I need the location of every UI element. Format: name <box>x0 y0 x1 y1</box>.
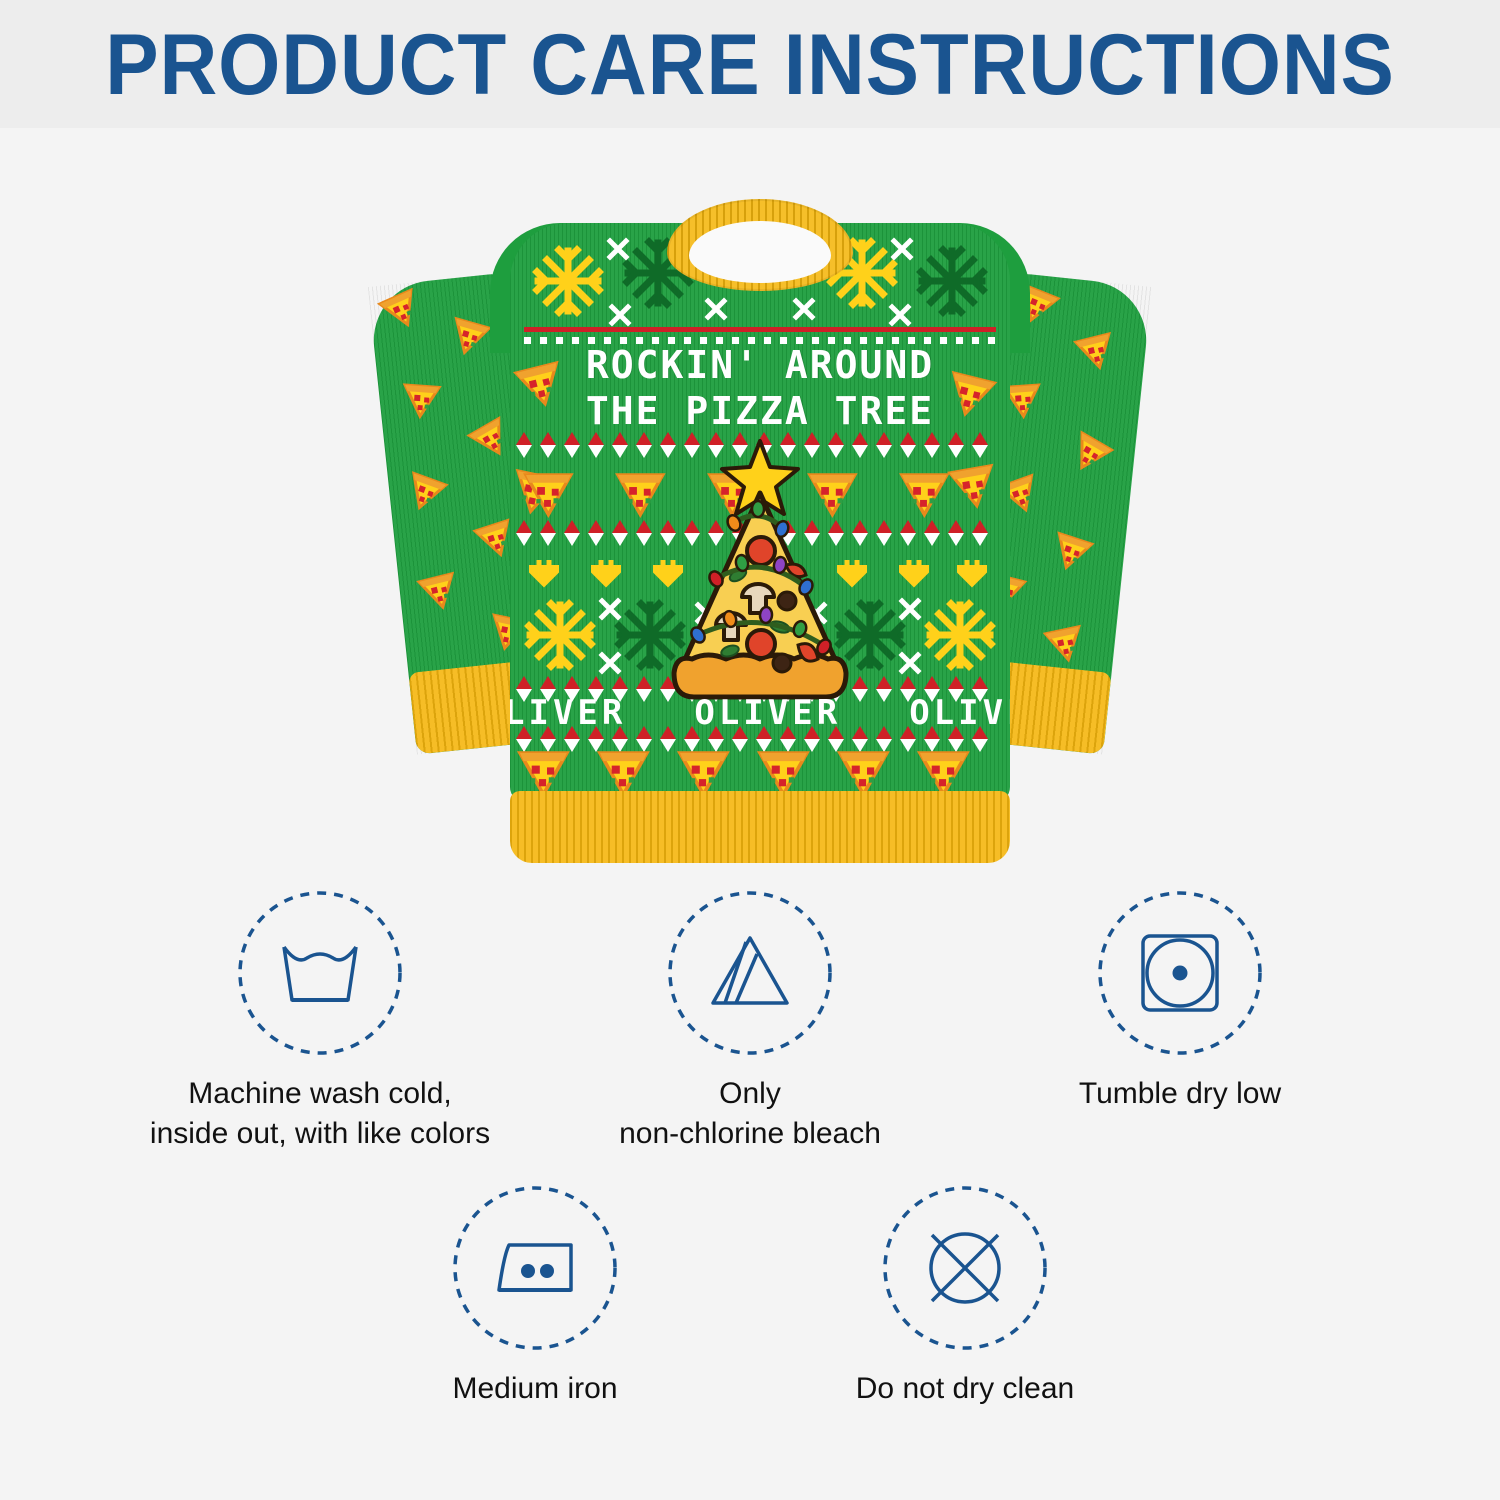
non-chlorine-bleach-icon-circle <box>667 890 833 1056</box>
sweater-slogan-line2: THE PIZZA TREE <box>510 389 1010 433</box>
care-item-do-not-dry-clean: Do not dry clean <box>750 1185 1180 1409</box>
care-row-2: Medium iron Do not dry clean <box>0 1185 1500 1409</box>
pizza-crust <box>674 655 846 697</box>
care-label-non-chlorine-bleach: Only non-chlorine bleach <box>619 1074 881 1153</box>
care-label-tumble-dry-low: Tumble dry low <box>1079 1074 1281 1114</box>
sweater-graphic: ROCKIN' AROUND THE PIZZA TREE <box>370 183 1150 863</box>
do-not-dry-clean-icon-circle <box>882 1185 1048 1351</box>
name-right-partial: OLIVE <box>909 693 1010 733</box>
care-label-medium-iron: Medium iron <box>452 1369 617 1409</box>
care-label-machine-wash: Machine wash cold, inside out, with like… <box>150 1074 490 1153</box>
tumble-dry-low-icon-circle <box>1097 890 1263 1056</box>
machine-wash-icon <box>237 890 403 1056</box>
red-stripe <box>524 327 996 332</box>
name-left-partial: LIVER <box>510 693 626 733</box>
care-label-do-not-dry-clean: Do not dry clean <box>856 1369 1074 1409</box>
care-instructions-grid: Machine wash cold, inside out, with like… <box>0 890 1500 1409</box>
sweater-name-band: LIVEROLIVEROLIVE <box>510 693 1010 733</box>
pizza-row-band-2 <box>520 753 967 794</box>
do-not-dry-clean-icon <box>882 1185 1048 1351</box>
name-center: OLIVER <box>694 693 841 733</box>
care-item-machine-wash: Machine wash cold, inside out, with like… <box>105 890 535 1153</box>
sweater-hem <box>510 791 1010 863</box>
care-item-non-chlorine-bleach: Only non-chlorine bleach <box>535 890 965 1153</box>
product-image: ROCKIN' AROUND THE PIZZA TREE <box>0 128 1500 888</box>
sweater-slogan-line1: ROCKIN' AROUND <box>510 343 1010 387</box>
care-row-1: Machine wash cold, inside out, with like… <box>0 890 1500 1153</box>
sweater-collar <box>667 199 853 291</box>
tumble-dry-low-icon <box>1097 890 1263 1056</box>
care-item-medium-iron: Medium iron <box>320 1185 750 1409</box>
care-item-tumble-dry-low: Tumble dry low <box>965 890 1395 1114</box>
page-title: PRODUCT CARE INSTRUCTIONS <box>53 16 1448 115</box>
non-chlorine-bleach-icon <box>667 890 833 1056</box>
sweater-body: ROCKIN' AROUND THE PIZZA TREE <box>510 223 1010 803</box>
medium-iron-icon <box>452 1185 618 1351</box>
collar-inner-lining <box>689 221 831 283</box>
medium-iron-icon-circle <box>452 1185 618 1351</box>
machine-wash-icon-circle <box>237 890 403 1056</box>
